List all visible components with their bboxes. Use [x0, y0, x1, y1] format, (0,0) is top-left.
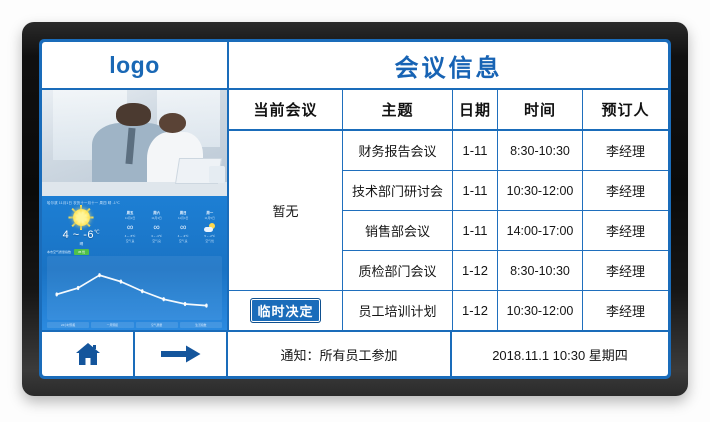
cell-text: 8:30-10:30 — [510, 264, 570, 278]
cell-text: 员工培训计划 — [358, 301, 436, 320]
weather-today: 4 ~ -6℃ 晴 — [46, 207, 117, 247]
table-row[interactable]: 技术部门研讨会 1-11 10:30-12:00 李经理 — [343, 171, 668, 211]
header-bar: logo 会议信息 — [42, 42, 668, 90]
cell-text: 1-11 — [462, 223, 487, 238]
forecast-day-temp: 5 ~ -2℃ — [196, 234, 223, 238]
media-column: 哈尔滨 11月1日 农历十一月十一 周四 晴 -1℃ 4 ~ -6℃ 晴 — [42, 90, 229, 330]
forecast-day-aqi: 空气良 — [143, 239, 170, 243]
cell-text: 1-11 — [462, 143, 487, 158]
forecast-day-aqi: 空气良 — [117, 239, 144, 243]
column-header-label: 主题 — [381, 99, 413, 120]
cell-subject: 技术部门研讨会 — [343, 171, 453, 210]
cell-text: 8:30-10:30 — [510, 144, 570, 158]
weather-tab[interactable]: 一周预报 — [91, 322, 133, 328]
current-meeting-badge-cell: 临时决定 — [229, 291, 342, 330]
cell-text: 李经理 — [606, 301, 645, 320]
column-header-label: 时间 — [524, 99, 556, 120]
sun-cloud-icon — [196, 222, 223, 233]
meeting-rows: 财务报告会议 1-11 8:30-10:30 李经理 技术部门研讨会 1-11 … — [343, 131, 668, 330]
forecast-day[interactable]: 周五 11月2日 ∞ 4 ~ -5℃ 空气良 — [117, 207, 144, 247]
table-row[interactable]: 质检部门会议 1-12 8:30-10:30 李经理 — [343, 251, 668, 291]
forecast-day-date: 11月4日 — [170, 216, 197, 220]
forecast-day-name: 周一 — [196, 210, 223, 215]
forecast-day-aqi: 空气良 — [170, 239, 197, 243]
cell-time: 10:30-12:00 — [498, 171, 583, 210]
screen-content: logo 会议信息 — [42, 42, 668, 376]
cell-date: 1-11 — [453, 171, 498, 210]
meeting-table: 当前会议 主题 日期 时间 预订 — [229, 90, 668, 330]
temporary-decision-badge[interactable]: 临时决定 — [250, 298, 320, 323]
logo-text: logo — [109, 52, 160, 79]
trend-svg — [47, 256, 222, 320]
cloudy-icon: ∞ — [143, 222, 170, 233]
cell-text: 1-12 — [462, 263, 488, 278]
body-row: 哈尔滨 11月1日 农历十一月十一 周四 晴 -1℃ 4 ~ -6℃ 晴 — [42, 90, 668, 330]
home-button[interactable] — [42, 332, 135, 376]
next-button[interactable] — [135, 332, 228, 376]
weather-tab[interactable]: 生活指数 — [180, 322, 222, 328]
cell-text: 14:00-17:00 — [507, 224, 574, 238]
cell-text: 李经理 — [606, 221, 645, 240]
cell-text: 10:30-12:00 — [507, 304, 574, 318]
title-cell: 会议信息 — [229, 42, 668, 88]
cloudy-icon: ∞ — [117, 222, 144, 233]
cell-date: 1-12 — [453, 291, 498, 330]
current-meeting-status: 暂无 — [272, 201, 298, 220]
air-quality-bar: 本市空气质量指数 35 优 — [47, 249, 223, 255]
temperature-trend-chart — [47, 256, 222, 320]
cell-booker: 李经理 — [583, 171, 668, 210]
cell-subject: 财务报告会议 — [343, 131, 453, 170]
sun-icon — [73, 209, 90, 226]
datetime-text: 2018.11.1 10:30 星期四 — [492, 345, 628, 364]
photo-man-head — [116, 103, 151, 126]
page-title: 会议信息 — [395, 48, 503, 83]
cell-time: 8:30-10:30 — [498, 251, 583, 290]
table-body: 暂无 临时决定 财务报告会议 1-11 8:30-10:3 — [229, 131, 668, 330]
cell-text: 财务报告会议 — [358, 141, 436, 160]
cell-date: 1-12 — [453, 251, 498, 290]
air-quality-chip: 35 优 — [74, 249, 89, 255]
datetime-cell: 2018.11.1 10:30 星期四 — [452, 332, 668, 376]
weather-tab[interactable]: 24小时预报 — [47, 322, 89, 328]
forecast-day-date: 11月2日 — [117, 216, 144, 220]
column-header-date: 日期 — [453, 90, 498, 129]
logo-cell[interactable]: logo — [42, 42, 229, 88]
cell-date: 1-11 — [453, 131, 498, 170]
cell-time: 8:30-10:30 — [498, 131, 583, 170]
current-meeting-column: 暂无 临时决定 — [229, 131, 343, 330]
column-header-label: 预订人 — [601, 99, 649, 120]
forecast-day-name: 周六 — [143, 210, 170, 215]
weather-forecast-list: 周五 11月2日 ∞ 4 ~ -5℃ 空气良 周六 11月3日 — [117, 207, 223, 247]
cell-text: 技术部门研讨会 — [352, 181, 443, 200]
weather-tabs: 24小时预报 一周预报 空气质量 生活指数 — [47, 322, 222, 328]
forecast-day-aqi: 空气优 — [196, 239, 223, 243]
forecast-day-temp: 3 ~ -4℃ — [143, 234, 170, 238]
forecast-day[interactable]: 周六 11月3日 ∞ 3 ~ -4℃ 空气良 — [143, 207, 170, 247]
table-header-row: 当前会议 主题 日期 时间 预订 — [229, 90, 668, 131]
cell-booker: 李经理 — [583, 131, 668, 170]
weather-temperature: 4 ~ -6℃ — [63, 229, 101, 241]
screenshot-root: logo 会议信息 — [0, 0, 710, 422]
footer-bar: 通知：所有员工参加 2018.11.1 10:30 星期四 — [42, 330, 668, 376]
column-header-time: 时间 — [498, 90, 583, 129]
cell-text: 李经理 — [606, 141, 645, 160]
table-row[interactable]: 财务报告会议 1-11 8:30-10:30 李经理 — [343, 131, 668, 171]
monitor-bezel: logo 会议信息 — [22, 22, 688, 396]
cell-text: 销售部会议 — [365, 221, 430, 240]
cell-booker: 李经理 — [583, 211, 668, 250]
forecast-day[interactable]: 周日 11月4日 ∞ 4 ~ -3℃ 空气良 — [170, 207, 197, 247]
forecast-day-temp: 4 ~ -3℃ — [170, 234, 197, 238]
cell-date: 1-11 — [453, 211, 498, 250]
forecast-day-name: 周五 — [117, 210, 144, 215]
arrow-right-icon — [161, 345, 201, 363]
weather-main: 4 ~ -6℃ 晴 周五 11月2日 ∞ 4 ~ -5℃ — [46, 207, 223, 247]
forecast-day-temp: 4 ~ -5℃ — [117, 234, 144, 238]
column-header-current: 当前会议 — [229, 90, 343, 129]
column-header-booker: 预订人 — [583, 90, 668, 129]
weather-temp-unit: ℃ — [94, 229, 100, 235]
weather-city-line: 哈尔滨 11月1日 农历十一月十一 周四 晴 -1℃ — [47, 200, 223, 205]
screen-frame: logo 会议信息 — [39, 39, 671, 379]
column-header-label: 当前会议 — [253, 99, 317, 120]
cell-booker: 李经理 — [583, 291, 668, 330]
forecast-day-date: 11月3日 — [143, 216, 170, 220]
cell-text: 10:30-12:00 — [507, 184, 574, 198]
cell-text: 质检部门会议 — [358, 261, 436, 280]
cell-subject: 销售部会议 — [343, 211, 453, 250]
weather-widget[interactable]: 哈尔滨 11月1日 农历十一月十一 周四 晴 -1℃ 4 ~ -6℃ 晴 — [42, 196, 227, 330]
air-quality-label: 本市空气质量指数 — [47, 250, 71, 254]
table-row[interactable]: 员工培训计划 1-12 10:30-12:00 李经理 — [343, 291, 668, 330]
cell-text: 1-11 — [462, 183, 487, 198]
cell-time: 10:30-12:00 — [498, 291, 583, 330]
cell-time: 14:00-17:00 — [498, 211, 583, 250]
weather-tab[interactable]: 空气质量 — [136, 322, 178, 328]
cell-subject: 质检部门会议 — [343, 251, 453, 290]
cell-booker: 李经理 — [583, 251, 668, 290]
table-row[interactable]: 销售部会议 1-11 14:00-17:00 李经理 — [343, 211, 668, 251]
cell-text: 1-12 — [462, 303, 488, 318]
forecast-day-name: 周日 — [170, 210, 197, 215]
cell-subject: 员工培训计划 — [343, 291, 453, 330]
weather-condition: 晴 — [80, 242, 84, 247]
current-meeting-status-cell: 暂无 — [229, 131, 342, 291]
forecast-day[interactable]: 周一 11月5日 5 ~ -2℃ 空气优 — [196, 207, 223, 247]
forecast-day-date: 11月5日 — [196, 216, 223, 220]
notice-cell: 通知：所有员工参加 — [228, 332, 452, 376]
notice-text: 通知：所有员工参加 — [280, 345, 397, 364]
column-header-subject: 主题 — [343, 90, 453, 129]
cloudy-icon: ∞ — [170, 222, 197, 233]
photo-cup — [209, 166, 226, 183]
cell-text: 李经理 — [606, 261, 645, 280]
column-header-label: 日期 — [459, 99, 491, 120]
weather-temp-value: 4 ~ -6 — [63, 229, 94, 241]
office-photo — [42, 90, 227, 196]
cell-text: 李经理 — [606, 181, 645, 200]
home-icon — [75, 342, 101, 366]
